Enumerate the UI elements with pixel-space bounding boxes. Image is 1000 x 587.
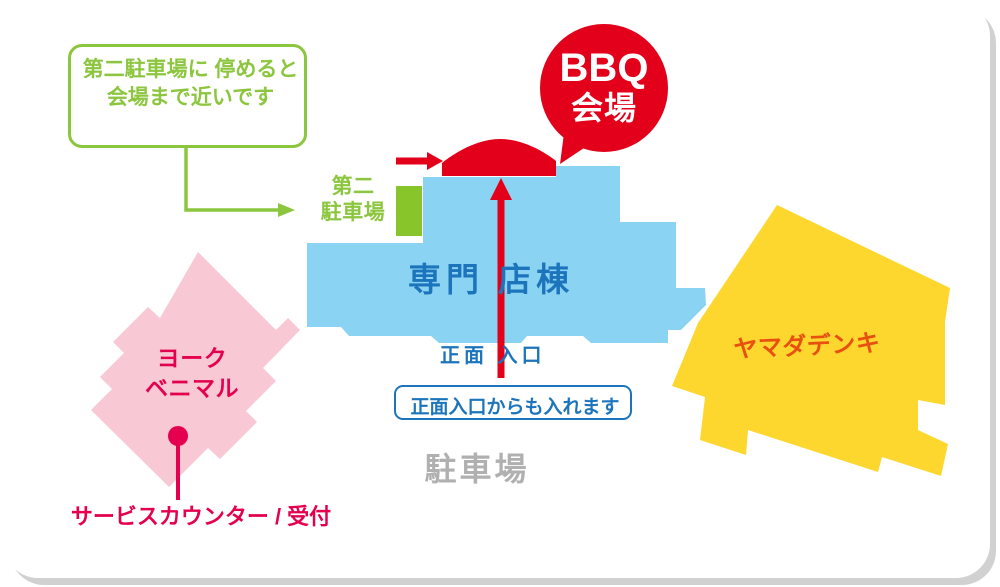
label-parking-lot: 駐車場 [392, 451, 562, 489]
map-stage: 第二駐車場に 停めると 会場まで近いです BBQ 会場 第二 駐車場 専門 店棟… [0, 0, 1000, 587]
second-parking-block[interactable] [396, 186, 422, 236]
bbq-badge-line2: 会場 [540, 91, 668, 127]
label-service-counter: サービスカウンター / 受付 [56, 504, 346, 530]
green-callout-box[interactable]: 第二駐車場に 停めると 会場まで近いです [68, 44, 307, 148]
bbq-venue-badge[interactable]: BBQ 会場 [540, 24, 668, 152]
bbq-venue-roof[interactable] [442, 139, 556, 176]
bbq-badge-line1: BBQ [540, 46, 668, 91]
label-specialty-store-building: 専門 店棟 [408, 261, 598, 300]
arrow-to-bbq-venue [396, 152, 443, 170]
label-york-benimaru: ヨーク ベニマル [112, 344, 272, 404]
label-second-parking: 第二 駐車場 [310, 174, 396, 227]
bbq-badge-text: BBQ 会場 [540, 46, 668, 127]
label-front-entrance: 正面 入口 [440, 345, 590, 369]
green-callout-text: 第二駐車場に 停めると 会場まで近いです [71, 56, 310, 111]
front-entrance-note-text: 正面入口からも入れます [396, 392, 634, 419]
map-screenshot: 第二駐車場に 停めると 会場まで近いです BBQ 会場 第二 駐車場 専門 店棟… [0, 0, 1000, 587]
front-entrance-note-box[interactable]: 正面入口からも入れます [394, 385, 632, 420]
green-connector-line [186, 148, 295, 217]
